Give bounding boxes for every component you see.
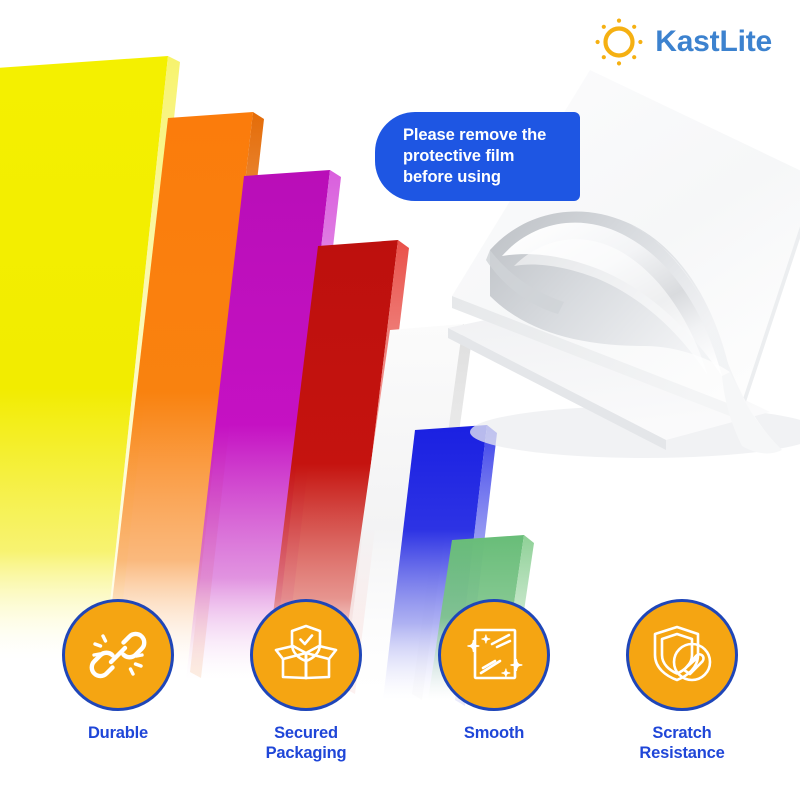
brand-wordmark: KastLite: [655, 25, 772, 59]
shield-blade-icon: [647, 620, 717, 690]
feature-label-line2: Resistance: [639, 744, 724, 764]
callout-line-1: Please remove the: [403, 125, 564, 146]
feature-label: Durable: [88, 724, 148, 744]
callout-line-3: before using: [403, 167, 564, 188]
feature-badge-row: Durable Secured Packaging: [0, 599, 800, 764]
protective-film-callout: Please remove the protective film before…: [375, 112, 580, 201]
feature-label-line1: Smooth: [464, 724, 524, 742]
sun-icon: [593, 16, 645, 68]
product-image-stage: KastLite Please remove the protective fi…: [0, 0, 800, 800]
feature-label-line1: Scratch: [652, 724, 711, 742]
feature-badge-circle: [626, 599, 738, 711]
feature-smooth: Smooth: [424, 599, 564, 744]
sparkle-panel-icon: [459, 620, 529, 690]
feature-label-line2: Packaging: [266, 744, 347, 764]
feature-scratch-resistance: Scratch Resistance: [612, 599, 752, 764]
feature-badge-circle: [250, 599, 362, 711]
feature-durable: Durable: [48, 599, 188, 744]
feature-label: Smooth: [464, 724, 524, 744]
feature-badge-circle: [62, 599, 174, 711]
callout-line-2: protective film: [403, 146, 564, 167]
shield-box-icon: [271, 620, 341, 690]
chain-link-icon: [85, 622, 151, 688]
feature-badge-circle: [438, 599, 550, 711]
brand-logo: KastLite: [593, 16, 772, 68]
feature-label: Scratch Resistance: [639, 724, 724, 764]
feature-label: Secured Packaging: [266, 724, 347, 764]
feature-label-line1: Durable: [88, 724, 148, 742]
feature-label-line1: Secured: [274, 724, 338, 742]
feature-secured-packaging: Secured Packaging: [236, 599, 376, 764]
